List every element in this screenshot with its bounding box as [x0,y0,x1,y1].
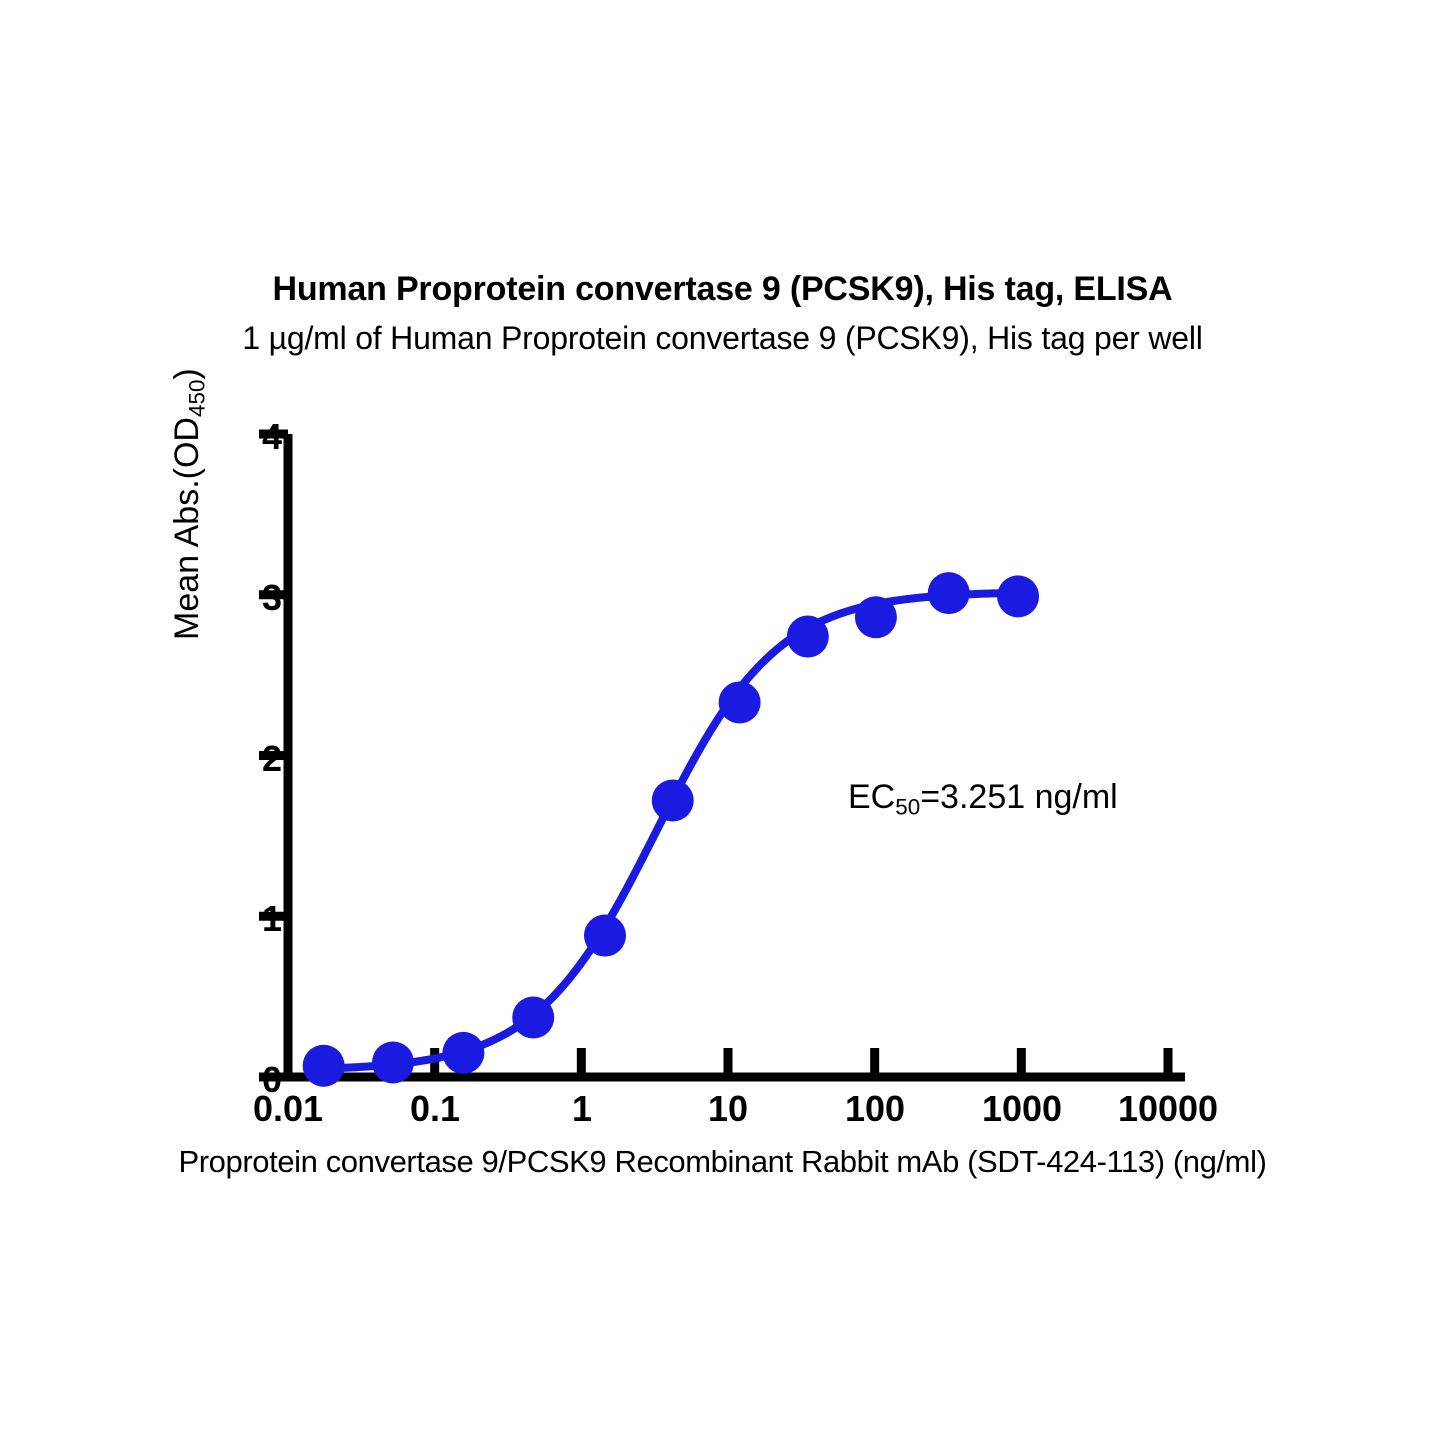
data-point-0 [303,1045,345,1087]
data-point-10 [997,575,1039,617]
fit-curve [315,593,1026,1069]
data-point-9 [928,572,970,614]
data-point-1 [372,1042,414,1084]
data-point-3 [512,997,554,1039]
plot-canvas [0,0,1445,1445]
data-point-6 [719,681,761,723]
data-point-5 [652,780,694,822]
data-point-markers [303,572,1039,1087]
data-point-7 [787,616,829,658]
axis-lines [284,434,1185,1077]
chart-figure: Human Proprotein convertase 9 (PCSK9), H… [0,0,1445,1445]
data-point-4 [584,915,626,957]
data-point-8 [855,596,897,638]
data-point-2 [442,1032,484,1074]
